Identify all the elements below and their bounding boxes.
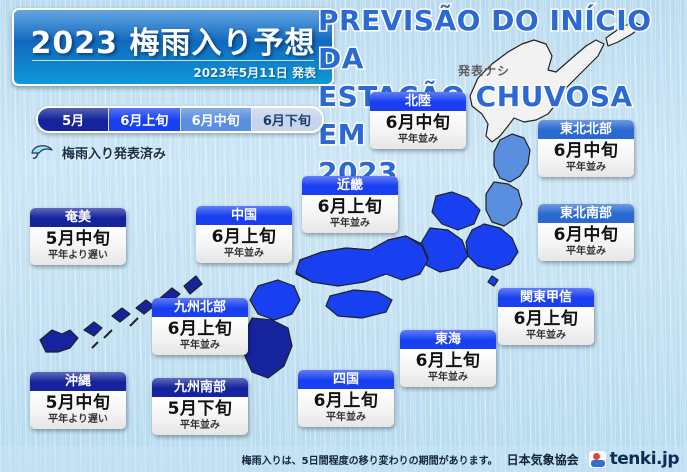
region-card-kyushu-north: 九州北部6月上旬平年並み xyxy=(152,298,248,355)
region-name-header: 九州北部 xyxy=(152,298,248,317)
region-forecast-date: 5月下旬 xyxy=(152,399,248,419)
map-region-honshu-coast xyxy=(296,236,428,286)
region-name-header: 東北北部 xyxy=(538,120,634,139)
region-forecast-date: 6月上旬 xyxy=(298,391,394,411)
region-comparison-note: 平年並み xyxy=(498,329,594,342)
map-region-kanto-koshin xyxy=(466,224,518,270)
footer-organization: 日本気象協会 xyxy=(507,451,579,468)
region-forecast-date: 5月中旬 xyxy=(30,229,126,249)
region-card-tokai: 東海6月上旬平年並み xyxy=(400,330,496,387)
legend-swatch-3: 6月下旬 xyxy=(252,108,322,131)
header-gloss xyxy=(302,176,398,186)
region-card-amami: 奄美5月中旬平年より遅い xyxy=(30,208,126,265)
region-comparison-note: 平年より遅い xyxy=(30,413,126,426)
region-comparison-note: 平年並み xyxy=(152,339,248,352)
region-forecast-date: 6月中旬 xyxy=(370,113,466,133)
region-forecast-date: 6月上旬 xyxy=(302,197,398,217)
region-forecast-date: 6月中旬 xyxy=(538,141,634,161)
region-name-header: 東北南部 xyxy=(538,204,634,223)
region-card-body: 6月上旬平年並み xyxy=(498,307,594,345)
overlay-line-1: PREVISÃO DO INÍCIO DA xyxy=(318,2,687,78)
region-card-body: 6月中旬平年並み xyxy=(538,223,634,261)
region-name-header: 四国 xyxy=(298,370,394,389)
region-comparison-note: 平年並み xyxy=(298,411,394,424)
umbrella-icon xyxy=(30,142,56,162)
region-name-header: 九州南部 xyxy=(152,378,248,397)
region-forecast-date: 6月上旬 xyxy=(400,351,496,371)
header-gloss xyxy=(30,208,126,218)
header-gloss xyxy=(196,206,292,216)
region-card-body: 6月上旬平年並み xyxy=(196,225,292,263)
region-comparison-note: 平年並み xyxy=(302,217,398,230)
region-comparison-note: 平年並み xyxy=(538,161,634,174)
region-forecast-date: 6月上旬 xyxy=(196,227,292,247)
region-card-hokuriku: 北陸6月中旬平年並み xyxy=(370,92,466,149)
legend-note-label: 梅雨入り発表済み xyxy=(62,143,166,162)
legend-label: 5月 xyxy=(62,110,84,129)
tenki-logo[interactable]: tenki.jp xyxy=(588,449,679,469)
region-card-body: 6月中旬平年並み xyxy=(538,139,634,177)
region-comparison-note: 平年並み xyxy=(196,247,292,260)
page-title: 2023 梅雨入り予想 xyxy=(14,18,332,62)
region-card-tohoku-north: 東北北部6月中旬平年並み xyxy=(538,120,634,177)
legend-label: 6月下旬 xyxy=(263,110,311,129)
legend-note: 梅雨入り発表済み xyxy=(30,142,166,162)
map-region-hokuriku xyxy=(432,192,480,230)
region-forecast-date: 6月上旬 xyxy=(498,309,594,329)
map-region-shikoku xyxy=(326,290,392,318)
header-gloss xyxy=(538,204,634,214)
header-gloss xyxy=(538,120,634,130)
region-forecast-date: 6月上旬 xyxy=(152,319,248,339)
color-legend: 5月6月上旬6月中旬6月下旬 xyxy=(36,106,324,133)
region-card-body: 5月下旬平年並み xyxy=(152,397,248,435)
map-region-island-dashes xyxy=(92,318,138,348)
header-gloss xyxy=(370,92,466,102)
legend-label: 6月上旬 xyxy=(120,110,168,129)
region-forecast-date: 6月中旬 xyxy=(538,225,634,245)
region-card-body: 6月中旬平年並み xyxy=(370,111,466,149)
legend-swatch-2: 6月中旬 xyxy=(181,108,252,131)
region-comparison-note: 平年より遅い xyxy=(30,249,126,262)
legend-swatch-0: 5月 xyxy=(38,108,109,131)
region-card-kinki: 近畿6月上旬平年並み xyxy=(302,176,398,233)
region-card-body: 5月中旬平年より遅い xyxy=(30,227,126,265)
footer-bar: 梅雨入りは、5日間程度の移り変わりの期間があります。 日本気象協会 tenki.… xyxy=(0,446,687,472)
region-comparison-note: 平年並み xyxy=(370,133,466,146)
map-region-izu-islands xyxy=(488,276,498,286)
legend-swatch-1: 6月上旬 xyxy=(109,108,180,131)
region-comparison-note: 平年並み xyxy=(152,419,248,432)
region-name-header: 東海 xyxy=(400,330,496,349)
header-gloss xyxy=(152,298,248,308)
region-card-okinawa: 沖縄5月中旬平年より遅い xyxy=(30,372,126,429)
region-name-header: 中国 xyxy=(196,206,292,225)
region-card-body: 6月上旬平年並み xyxy=(302,195,398,233)
region-name-header: 関東甲信 xyxy=(498,288,594,307)
tenki-mark-icon xyxy=(588,450,607,469)
region-name-header: 北陸 xyxy=(370,92,466,111)
announcement-date: 2023年5月11日 発表 xyxy=(193,64,316,81)
region-name-header: 沖縄 xyxy=(30,372,126,391)
title-divider xyxy=(32,60,314,61)
region-card-body: 6月上旬平年並み xyxy=(298,389,394,427)
footer-note: 梅雨入りは、5日間程度の移り変わりの期間があります。 xyxy=(242,452,498,467)
region-card-body: 6月上旬平年並み xyxy=(152,317,248,355)
region-card-shikoku: 四国6月上旬平年並み xyxy=(298,370,394,427)
header-gloss xyxy=(400,330,496,340)
map-region-kyushu-south xyxy=(244,318,292,378)
region-card-kanto-koshin: 関東甲信6月上旬平年並み xyxy=(498,288,594,345)
header-gloss xyxy=(30,372,126,382)
region-comparison-note: 平年並み xyxy=(538,245,634,258)
region-comparison-note: 平年並み xyxy=(400,371,496,384)
region-card-body: 6月上旬平年並み xyxy=(400,349,496,387)
region-card-tohoku-south: 東北南部6月中旬平年並み xyxy=(538,204,634,261)
header-gloss xyxy=(498,288,594,298)
title-banner: 2023 梅雨入り予想 2023年5月11日 発表 xyxy=(12,8,334,86)
map-region-kyushu-north xyxy=(250,280,300,320)
region-card-chugoku: 中国6月上旬平年並み xyxy=(196,206,292,263)
region-card-kyushu-south: 九州南部5月下旬平年並み xyxy=(152,378,248,435)
region-forecast-date: 5月中旬 xyxy=(30,393,126,413)
region-name-header: 奄美 xyxy=(30,208,126,227)
region-name-header: 近畿 xyxy=(302,176,398,195)
legend-label: 6月中旬 xyxy=(192,110,240,129)
region-card-body: 5月中旬平年より遅い xyxy=(30,391,126,429)
tenki-wordmark: tenki.jp xyxy=(610,449,679,469)
header-gloss xyxy=(152,378,248,388)
header-gloss xyxy=(298,370,394,380)
